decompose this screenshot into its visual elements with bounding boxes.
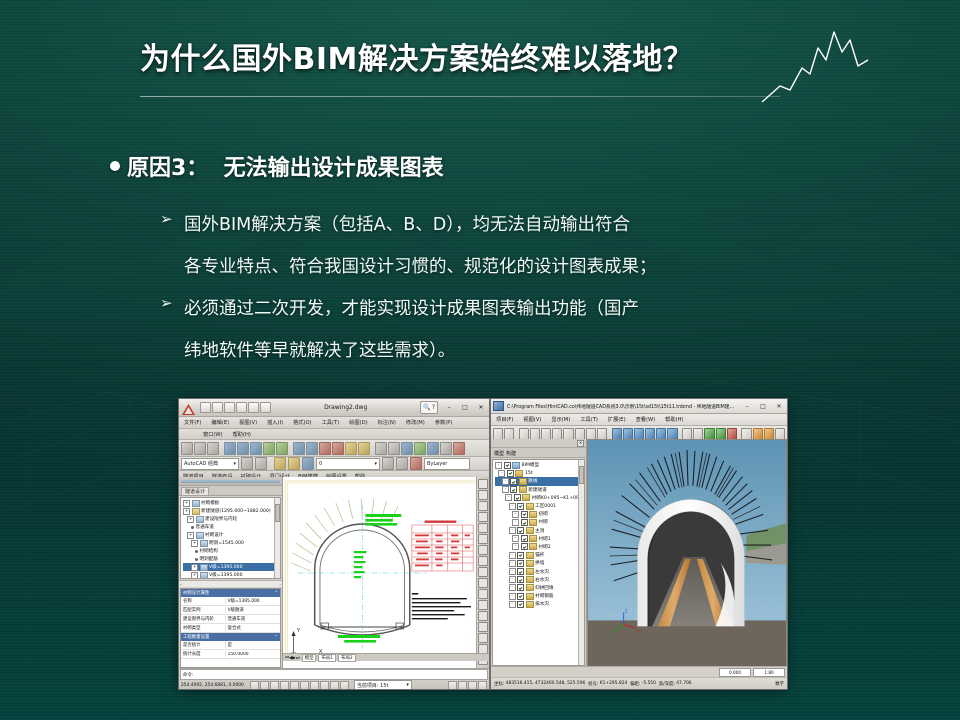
- menu-format[interactable]: 格式(O): [288, 419, 317, 426]
- bim-tree-node[interactable]: -衬砌钢筋: [495, 592, 582, 600]
- tunnel-cross-section-drawing: Y X: [283, 477, 489, 669]
- visibility-checkbox[interactable]: [517, 593, 524, 600]
- folder-icon: [526, 593, 534, 600]
- rectangle-icon[interactable]: [478, 523, 488, 533]
- tree-expander-icon[interactable]: -: [502, 486, 509, 493]
- bim-menu-tools[interactable]: 工具(T): [575, 416, 603, 423]
- bim-menu-project[interactable]: 项目(F): [491, 416, 518, 423]
- bim-view-back-icon[interactable]: [623, 428, 633, 440]
- visibility-checkbox[interactable]: [517, 552, 524, 559]
- menu-window[interactable]: 窗口(W): [203, 431, 223, 438]
- undo-toolbar-icon[interactable]: [319, 442, 331, 455]
- tree-expander-icon[interactable]: -: [512, 543, 519, 550]
- bim-settings-icon[interactable]: [775, 428, 785, 440]
- menu-draw[interactable]: 绘图(D): [344, 419, 372, 426]
- open-file-icon[interactable]: [212, 402, 223, 413]
- tree-node[interactable]: 衬砌结构: [183, 547, 278, 555]
- tree-expander-icon[interactable]: -: [509, 576, 516, 583]
- bim-view-left-icon[interactable]: [634, 428, 644, 440]
- tree-expander-icon[interactable]: -: [509, 560, 516, 567]
- sheetset-icon[interactable]: [414, 442, 426, 455]
- ellipse-icon[interactable]: [478, 545, 488, 555]
- bim-zoom-extents-icon[interactable]: [586, 428, 596, 440]
- visibility-checkbox[interactable]: [504, 462, 511, 469]
- bim-3d-viewport[interactable]: Z Y X: [587, 439, 787, 667]
- bim-zoom-in-icon[interactable]: [563, 428, 573, 440]
- redo-icon[interactable]: [248, 402, 259, 413]
- bim-model-panel[interactable]: × 模型 构建 -BIM模型-15t-路线-新建隧道-衬砌K0+095~K1+0…: [491, 439, 587, 667]
- property-value[interactable]: V级=1395.000: [226, 598, 280, 604]
- tree-expander-icon[interactable]: +: [191, 572, 198, 579]
- tree-expander-icon[interactable]: -: [509, 503, 516, 510]
- polygon-icon[interactable]: [478, 534, 488, 544]
- visibility-checkbox[interactable]: [517, 576, 524, 583]
- folder-icon: [526, 584, 534, 591]
- bim-tree-node-label: 路线: [528, 478, 537, 484]
- cursor-coordinates: 254.4092, 254.6881, 0.0000: [181, 683, 244, 688]
- tree-node[interactable]: +明洞=1545.000: [183, 539, 278, 547]
- color-combo[interactable]: ByLayer: [424, 458, 470, 470]
- tree-node[interactable]: +衬砌模板: [183, 499, 278, 507]
- tree-expander-icon[interactable]: -: [509, 552, 516, 559]
- bim-view-right-icon[interactable]: [645, 428, 655, 440]
- property-value[interactable]: 普通车道: [226, 616, 280, 622]
- autocad-drawing-area[interactable]: Y X: [283, 477, 489, 669]
- property-group-header[interactable]: 工程数量设置⌃: [181, 633, 280, 641]
- folder-icon: [529, 511, 537, 518]
- tunnel-3d-render: Z Y X: [588, 440, 786, 666]
- command-line[interactable]: 命令:: [180, 669, 488, 680]
- layer-make-icon[interactable]: [396, 457, 408, 470]
- bim-pan-icon[interactable]: [519, 428, 529, 440]
- bim-rotate-icon[interactable]: [541, 428, 551, 440]
- tree-expander-icon[interactable]: -: [509, 593, 516, 600]
- property-key: 统计长度: [181, 651, 226, 657]
- bullet-2-line-1: 必须通过二次开发，才能实现设计成果图表输出功能（国产: [184, 288, 639, 330]
- tree-node[interactable]: 明洞配筋: [183, 555, 278, 563]
- bim-render-icon[interactable]: [704, 428, 714, 440]
- menu-tools[interactable]: 工具(T): [317, 419, 345, 426]
- bim-export-icon[interactable]: [764, 428, 774, 440]
- paste-icon[interactable]: [293, 442, 305, 455]
- tree-expander-icon[interactable]: -: [512, 535, 519, 542]
- property-value[interactable]: V级隧道: [226, 607, 280, 613]
- collapse-icon[interactable]: ⌃: [274, 591, 278, 596]
- layer-match-icon[interactable]: [410, 457, 422, 470]
- autocad-menubar-row2[interactable]: 窗口(W) 帮助(H): [179, 429, 489, 440]
- bim-tree-node[interactable]: -左水沟: [495, 567, 582, 575]
- print-icon[interactable]: [260, 402, 271, 413]
- collapse-icon[interactable]: ⌃: [274, 635, 278, 640]
- new-icon[interactable]: [181, 442, 193, 455]
- array-icon[interactable]: [478, 633, 488, 643]
- circle-icon[interactable]: [478, 501, 488, 511]
- property-value[interactable]: 是: [226, 642, 280, 648]
- layer-combo[interactable]: 0▾: [316, 458, 380, 470]
- tree-node[interactable]: +建设限界与内轮: [183, 515, 278, 523]
- tree-expander-icon[interactable]: +: [183, 508, 190, 515]
- property-key: 是否统计: [181, 642, 226, 648]
- bullet-1-line-1: 国外BIM解决方案（包括A、B、D），均无法自动输出符合: [184, 204, 657, 246]
- tree-node[interactable]: +新建隧道(1295.000~1882.000): [183, 507, 278, 515]
- folder-icon: [192, 500, 200, 507]
- copy-icon[interactable]: [276, 442, 288, 455]
- bim-tree-node-label: 拱墙: [535, 560, 544, 566]
- plot-icon[interactable]: [224, 442, 236, 455]
- bim-tree-node[interactable]: -衬砌2: [495, 543, 582, 551]
- bim-menu-window[interactable]: 查看(W): [631, 416, 661, 423]
- redo-toolbar-icon[interactable]: [332, 442, 344, 455]
- autocad-menubar[interactable]: 文件(F) 编辑(E) 视图(V) 插入(I) 格式(O) 工具(T) 绘图(D…: [179, 417, 489, 429]
- bim-tree-node[interactable]: -排水沟: [495, 600, 582, 608]
- visibility-checkbox[interactable]: [510, 486, 517, 493]
- tab-layout1[interactable]: 布局1: [318, 654, 336, 662]
- folder-icon: [200, 564, 208, 571]
- polar-toggle[interactable]: [280, 681, 289, 690]
- bim-section-icon[interactable]: [727, 428, 737, 440]
- bim-orbit-icon[interactable]: [530, 428, 540, 440]
- bim-statusbar: 坐标: 483516.415, 4732460.548, 525.596 桩号:…: [491, 677, 787, 689]
- bim-view-bottom-icon[interactable]: [667, 428, 677, 440]
- bim-tree-node[interactable]: -拱墙: [495, 559, 582, 567]
- bim-window[interactable]: C:\Program Files\HintCAD.co\纬地隧道CAD系统3.0…: [490, 398, 788, 690]
- tree-scrollbar-horizontal[interactable]: ‹›: [179, 580, 282, 587]
- tree-expander-icon[interactable]: +: [187, 532, 194, 539]
- property-group-header[interactable]: 衬砌设计属性⌃: [181, 589, 280, 597]
- workspace-combo-value: AutoCAD 经典: [184, 460, 218, 467]
- layer-state-icon[interactable]: [255, 457, 267, 470]
- tree-scrollbar-vertical[interactable]: [274, 498, 280, 578]
- markup-icon[interactable]: [427, 442, 439, 455]
- bim-tree-node[interactable]: -工区0001: [495, 502, 582, 510]
- autocad-statusbar[interactable]: 254.4092, 254.6881, 0.0000 当前项目: 15t▾: [179, 680, 489, 690]
- bim-menu-view[interactable]: 视图(V): [518, 416, 546, 423]
- menu-help[interactable]: 帮助(H): [233, 431, 251, 438]
- bim-tree-node-label: 锚杆: [535, 552, 544, 558]
- dot-icon: [191, 526, 194, 529]
- line-icon[interactable]: [478, 479, 488, 489]
- lock-toolbars-icon[interactable]: [468, 681, 477, 690]
- otrack-toggle[interactable]: [300, 681, 309, 690]
- help-toolbar-icon[interactable]: [453, 442, 465, 455]
- bim-panel-header[interactable]: ×: [491, 439, 586, 448]
- layer-properties-icon[interactable]: [241, 457, 253, 470]
- property-key: 建设限界与内轮: [181, 616, 226, 622]
- property-row[interactable]: 建设限界与内轮普通车道: [181, 615, 280, 624]
- layer-combo-value: 0: [319, 461, 322, 467]
- arrow-bullet-icon: ➢: [160, 288, 174, 318]
- property-row[interactable]: 是否统计是: [181, 641, 280, 650]
- bim-model-tree[interactable]: -BIM模型-15t-路线-新建隧道-衬砌K0+095~K1+095-工区000…: [492, 459, 585, 666]
- menu-file[interactable]: 文件(F): [179, 419, 206, 426]
- tab-layout2[interactable]: 布局2: [338, 654, 356, 662]
- bim-tree-node-label: 右水沟: [535, 577, 549, 583]
- visibility-checkbox[interactable]: [517, 584, 524, 591]
- layer-lock-icon[interactable]: [302, 457, 314, 470]
- minimize-button[interactable]: –: [441, 402, 457, 414]
- bim-tree-node-label: 初砌: [539, 511, 548, 517]
- property-value[interactable]: 复合式: [226, 625, 280, 631]
- visibility-checkbox[interactable]: [517, 568, 524, 575]
- bim-menu-display[interactable]: 显示(M): [546, 416, 575, 423]
- bim-tree-node[interactable]: -衬砌K0+095~K1+095: [495, 494, 582, 502]
- bim-tree-node-label: BIM模型: [522, 462, 540, 468]
- visibility-checkbox[interactable]: [510, 478, 517, 485]
- bim-tree-node[interactable]: -右水沟: [495, 576, 582, 584]
- status-coords-value: 483516.415, 4732460.548, 525.596: [506, 681, 586, 686]
- clean-screen-icon[interactable]: [478, 681, 487, 690]
- bim-view-front-icon[interactable]: [612, 428, 622, 440]
- bim-menu-help[interactable]: 帮助(H): [660, 416, 688, 423]
- arc-icon[interactable]: [478, 512, 488, 522]
- bim-tab-component[interactable]: 构建: [506, 450, 516, 457]
- property-row[interactable]: 匹配实例V级隧道: [181, 606, 280, 615]
- presentation-slide: 为什么国外BIM解决方案始终难以落地？ 原因3： 无法输出设计成果图表 ➢ 国外…: [0, 0, 960, 720]
- bim-menu-extend[interactable]: 扩展(E): [603, 416, 631, 423]
- bim-panel-tabs[interactable]: 模型 构建: [491, 448, 586, 458]
- folder-icon: [200, 572, 208, 579]
- bim-info-icon[interactable]: [753, 428, 763, 440]
- status-input-mode: 数字: [775, 681, 784, 687]
- layer-toolbar-icon[interactable]: [440, 442, 452, 455]
- viewport-scale-field[interactable]: 0.000: [719, 668, 751, 677]
- snap-toggle[interactable]: [250, 681, 259, 690]
- workspace-combo[interactable]: AutoCAD 经典▾: [181, 458, 239, 470]
- visibility-checkbox[interactable]: [521, 535, 528, 542]
- tree-node[interactable]: +V级=1395.000: [183, 571, 278, 579]
- page-title: 为什么国外BIM解决方案始终难以落地？: [140, 34, 693, 78]
- tree-expander-icon[interactable]: -: [495, 462, 502, 469]
- tree-expander-icon[interactable]: -: [512, 511, 519, 518]
- designcenter-icon[interactable]: [388, 442, 400, 455]
- menu-edit[interactable]: 编辑(E): [206, 419, 234, 426]
- maximize-button[interactable]: □: [457, 402, 473, 414]
- tree-expander-icon[interactable]: -: [498, 470, 505, 477]
- tree-node[interactable]: +V级=1395.000: [183, 563, 278, 571]
- trim-icon[interactable]: [478, 600, 488, 610]
- bim-tree-node[interactable]: -BIM模型: [495, 461, 582, 469]
- tree-expander-icon[interactable]: -: [512, 519, 519, 526]
- tree-expander-icon[interactable]: -: [509, 584, 516, 591]
- palette-tabrow[interactable]: 隧道设计: [179, 486, 282, 496]
- menu-dimension[interactable]: 标注(N): [373, 419, 401, 426]
- bim-walk-icon[interactable]: [716, 428, 726, 440]
- dot-icon: [195, 550, 198, 553]
- annotation-scale-icon[interactable]: [448, 681, 457, 690]
- menu-view[interactable]: 视图(V): [234, 419, 262, 426]
- window-buttons[interactable]: – □ ✕: [441, 402, 489, 414]
- menu-insert[interactable]: 插入(I): [262, 419, 288, 426]
- save-icon[interactable]: [207, 442, 219, 455]
- property-row[interactable]: 衬砌类型复合式: [181, 624, 280, 633]
- polyline-icon[interactable]: [478, 490, 488, 500]
- visibility-checkbox[interactable]: [507, 470, 514, 477]
- ortho-toggle[interactable]: [270, 681, 279, 690]
- autocad-window[interactable]: Drawing2.dwg 🔍 ? – □ ✕ 文件(F) 编辑(E) 视图(V)…: [178, 398, 490, 690]
- qp-toggle[interactable]: [340, 681, 349, 690]
- properties-panel[interactable]: 衬砌设计属性⌃名称V级=1395.000匹配实例V级隧道建设限界与内轮普通车道衬…: [180, 588, 281, 668]
- bim-measure-icon[interactable]: [741, 428, 751, 440]
- menu-parametric[interactable]: 参数(P): [430, 419, 458, 426]
- mirror-icon[interactable]: [478, 622, 488, 632]
- tab-model[interactable]: 模型: [302, 654, 317, 662]
- cut-icon[interactable]: [263, 442, 275, 455]
- visibility-checkbox[interactable]: [517, 601, 524, 608]
- property-key: 匹配实例: [181, 607, 226, 613]
- bim-close-button[interactable]: ✕: [771, 400, 787, 412]
- autocad-titlebar[interactable]: Drawing2.dwg 🔍 ? – □ ✕: [179, 399, 489, 417]
- bim-minimize-button[interactable]: –: [739, 400, 755, 412]
- tab-nav-icons[interactable]: ⏮◀▶⏭: [285, 655, 300, 661]
- property-row[interactable]: 统计长度150.0000: [181, 650, 280, 659]
- undo-icon[interactable]: [236, 402, 247, 413]
- close-button[interactable]: ✕: [473, 402, 489, 414]
- tree-expander-icon[interactable]: -: [505, 494, 512, 501]
- bim-tab-model[interactable]: 模型: [494, 450, 504, 457]
- screenshot-composite: Drawing2.dwg 🔍 ? – □ ✕ 文件(F) 编辑(E) 视图(V)…: [178, 398, 786, 688]
- offset-icon[interactable]: [478, 611, 488, 621]
- bim-tree-node[interactable]: -初砌: [495, 510, 582, 518]
- bim-tree-node[interactable]: -衬砌1: [495, 535, 582, 543]
- property-row[interactable]: 名称V级=1395.000: [181, 597, 280, 606]
- matchprop-icon[interactable]: [306, 442, 318, 455]
- bim-zoom-out-icon[interactable]: [575, 428, 585, 440]
- autocad-draw-toolbar[interactable]: [476, 477, 489, 669]
- bim-save-icon[interactable]: [504, 428, 514, 440]
- bim-tree-node[interactable]: -衬砌: [495, 518, 582, 526]
- workspace-switch-icon[interactable]: [458, 681, 467, 690]
- bim-panel-close-icon[interactable]: ×: [577, 440, 584, 447]
- osnap-toggle[interactable]: [290, 681, 299, 690]
- tree-expander-icon[interactable]: +: [191, 540, 198, 547]
- save-file-icon[interactable]: [224, 402, 235, 413]
- menu-modify[interactable]: 修改(M): [401, 419, 430, 426]
- folder-icon: [526, 503, 534, 510]
- help-icon[interactable]: ?: [432, 404, 435, 411]
- visibility-checkbox[interactable]: [521, 511, 528, 518]
- bim-maximize-button[interactable]: □: [755, 400, 771, 412]
- layer-freeze-icon[interactable]: [288, 457, 300, 470]
- tree-expander-icon[interactable]: -: [509, 527, 516, 534]
- publish-icon[interactable]: [250, 442, 262, 455]
- folder-icon: [196, 532, 204, 539]
- tree-expander-icon[interactable]: -: [502, 478, 509, 485]
- tree-expander-icon[interactable]: -: [509, 601, 516, 608]
- bim-view-top-icon[interactable]: [656, 428, 666, 440]
- bim-zoom-previous-icon[interactable]: [597, 428, 607, 440]
- layer-on-icon[interactable]: [274, 457, 286, 470]
- bim-shaded-icon[interactable]: [693, 428, 703, 440]
- tunnel-design-palette[interactable]: 隧道设计 +衬砌模板+新建隧道(1295.000~1882.000)+建设限界与…: [179, 477, 283, 669]
- visibility-checkbox[interactable]: [521, 543, 528, 550]
- visibility-checkbox[interactable]: [517, 527, 524, 534]
- tree-expander-icon[interactable]: +: [183, 500, 190, 507]
- current-project-combo[interactable]: 当前项目: 15t▾: [354, 680, 412, 690]
- new-file-icon[interactable]: [200, 402, 211, 413]
- tree-node-label: 衬砌设计: [205, 532, 223, 538]
- infocenter-search[interactable]: 🔍 ?: [420, 401, 438, 414]
- tree-node[interactable]: +衬砌设计: [183, 531, 278, 539]
- open-icon[interactable]: [194, 442, 206, 455]
- grid-toggle[interactable]: [260, 681, 269, 690]
- visibility-checkbox[interactable]: [517, 503, 524, 510]
- bim-wireframe-icon[interactable]: [682, 428, 692, 440]
- folder-icon: [529, 543, 537, 550]
- dyn-toggle[interactable]: [320, 681, 329, 690]
- bim-titlebar[interactable]: C:\Program Files\HintCAD.co\纬地隧道CAD系统3.0…: [491, 399, 787, 414]
- zoom-icon[interactable]: [358, 442, 370, 455]
- bim-tree-node[interactable]: -仰拱回填: [495, 584, 582, 592]
- bim-window-buttons[interactable]: – □ ✕: [739, 400, 787, 412]
- bim-tree-node[interactable]: -新建隧道: [495, 486, 582, 494]
- bim-tree-node[interactable]: -锚杆: [495, 551, 582, 559]
- layer-previous-icon[interactable]: [382, 457, 394, 470]
- folder-icon: [529, 519, 537, 526]
- move-icon[interactable]: [478, 578, 488, 588]
- layout-tabs[interactable]: ⏮◀▶⏭ 模型 布局1 布局2: [283, 653, 489, 661]
- autocad-standard-toolbar[interactable]: [179, 440, 489, 457]
- bim-tree-node-label: 衬砌1: [539, 536, 551, 542]
- tree-node-label: 衬砌模板: [201, 500, 219, 506]
- bim-tree-node-label: 仰拱回填: [535, 585, 553, 591]
- bim-app-icon: [493, 401, 504, 411]
- search-icon[interactable]: 🔍: [423, 404, 430, 411]
- bim-tree-node[interactable]: -主洞: [495, 527, 582, 535]
- folder-icon: [522, 494, 530, 501]
- bim-tree-node[interactable]: -路线: [495, 477, 582, 485]
- lwt-toggle[interactable]: [330, 681, 339, 690]
- bim-tree-scrollbar[interactable]: [578, 460, 584, 665]
- folder-icon: [526, 552, 534, 559]
- status-coords-label: 坐标:: [494, 681, 504, 687]
- tree-node[interactable]: 普通车道: [183, 523, 278, 531]
- visibility-checkbox[interactable]: [514, 494, 521, 501]
- folder-icon: [519, 478, 527, 485]
- tree-node-label: 衬砌结构: [200, 548, 218, 554]
- folder-icon: [529, 535, 537, 542]
- autocad-layer-toolbar[interactable]: AutoCAD 经典▾ 0▾ ByLayer: [179, 457, 489, 471]
- bim-statusbar-area: 0.000 1:80 坐标: 483516.415, 4732460.548, …: [491, 666, 787, 689]
- property-key: 衬砌类型: [181, 625, 226, 631]
- tree-expander-icon[interactable]: -: [509, 568, 516, 575]
- spline-icon[interactable]: [478, 556, 488, 566]
- tree-node-label: 新建隧道(1295.000~1882.000): [201, 508, 271, 514]
- tree-expander-icon[interactable]: +: [191, 564, 198, 571]
- bim-open-icon[interactable]: [493, 428, 503, 440]
- pan-icon[interactable]: [345, 442, 357, 455]
- preview-icon[interactable]: [237, 442, 249, 455]
- visibility-checkbox[interactable]: [521, 519, 528, 526]
- tree-expander-icon[interactable]: +: [187, 516, 194, 523]
- tunnel-tree[interactable]: +衬砌模板+新建隧道(1295.000~1882.000)+建设限界与内轮普通车…: [180, 497, 281, 579]
- hatch-icon[interactable]: [478, 567, 488, 577]
- status-height-value: 47.706: [676, 681, 691, 686]
- ducs-toggle[interactable]: [310, 681, 319, 690]
- bim-viewport-controls[interactable]: 0.000 1:80: [491, 667, 787, 677]
- visibility-checkbox[interactable]: [517, 560, 524, 567]
- properties-icon[interactable]: [375, 442, 387, 455]
- palette-tab-tunnel-design[interactable]: 隧道设计: [181, 487, 209, 495]
- bim-tree-node[interactable]: -15t: [495, 469, 582, 477]
- property-value[interactable]: 150.0000: [226, 652, 280, 657]
- bim-menubar[interactable]: 项目(F) 视图(V) 显示(M) 工具(T) 扩展(E) 查看(W) 帮助(H…: [491, 414, 787, 426]
- viewport-mode-field[interactable]: 1:80: [753, 668, 785, 677]
- bim-zoom-window-icon[interactable]: [552, 428, 562, 440]
- palette-header[interactable]: [179, 477, 282, 486]
- rotate-icon[interactable]: [478, 589, 488, 599]
- quick-access-toolbar[interactable]: [200, 402, 271, 413]
- toolpalettes-icon[interactable]: [401, 442, 413, 455]
